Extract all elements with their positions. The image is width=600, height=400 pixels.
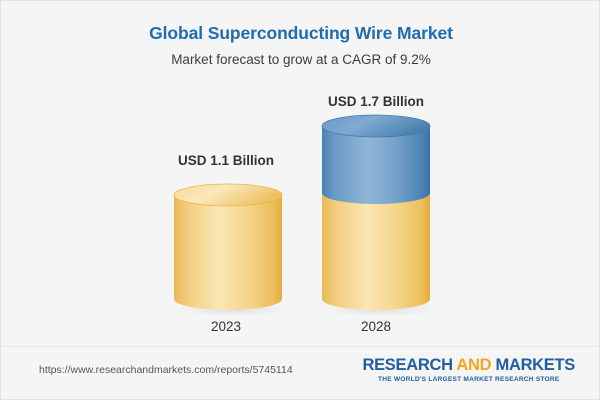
x-axis-label-2028: 2028 [311,319,441,334]
logo-word-and: AND [456,356,491,374]
x-axis-label-2023: 2023 [161,319,291,334]
bar-cylinder-2023 [169,181,287,316]
logo-word-research: RESEARCH [362,356,456,374]
logo-wordmark: RESEARCH AND MARKETS [362,357,575,374]
market-chart-card: Global Superconducting Wire Market Marke… [0,0,600,400]
bar-value-label-2028: USD 1.7 Billion [311,94,441,109]
bar-cylinder-2028 [317,112,435,316]
chart-plot-area: USD 1.1 Billion USD 1.7 Billion 2023 202… [1,1,600,346]
research-and-markets-logo[interactable]: RESEARCH AND MARKETS THE WORLD'S LARGEST… [362,357,575,383]
logo-tagline: THE WORLD'S LARGEST MARKET RESEARCH STOR… [362,376,575,383]
logo-word-markets: MARKETS [491,356,575,374]
chart-footer: https://www.researchandmarkets.com/repor… [1,346,600,399]
bar-value-label-2023: USD 1.1 Billion [161,153,291,168]
report-url[interactable]: https://www.researchandmarkets.com/repor… [39,364,293,376]
